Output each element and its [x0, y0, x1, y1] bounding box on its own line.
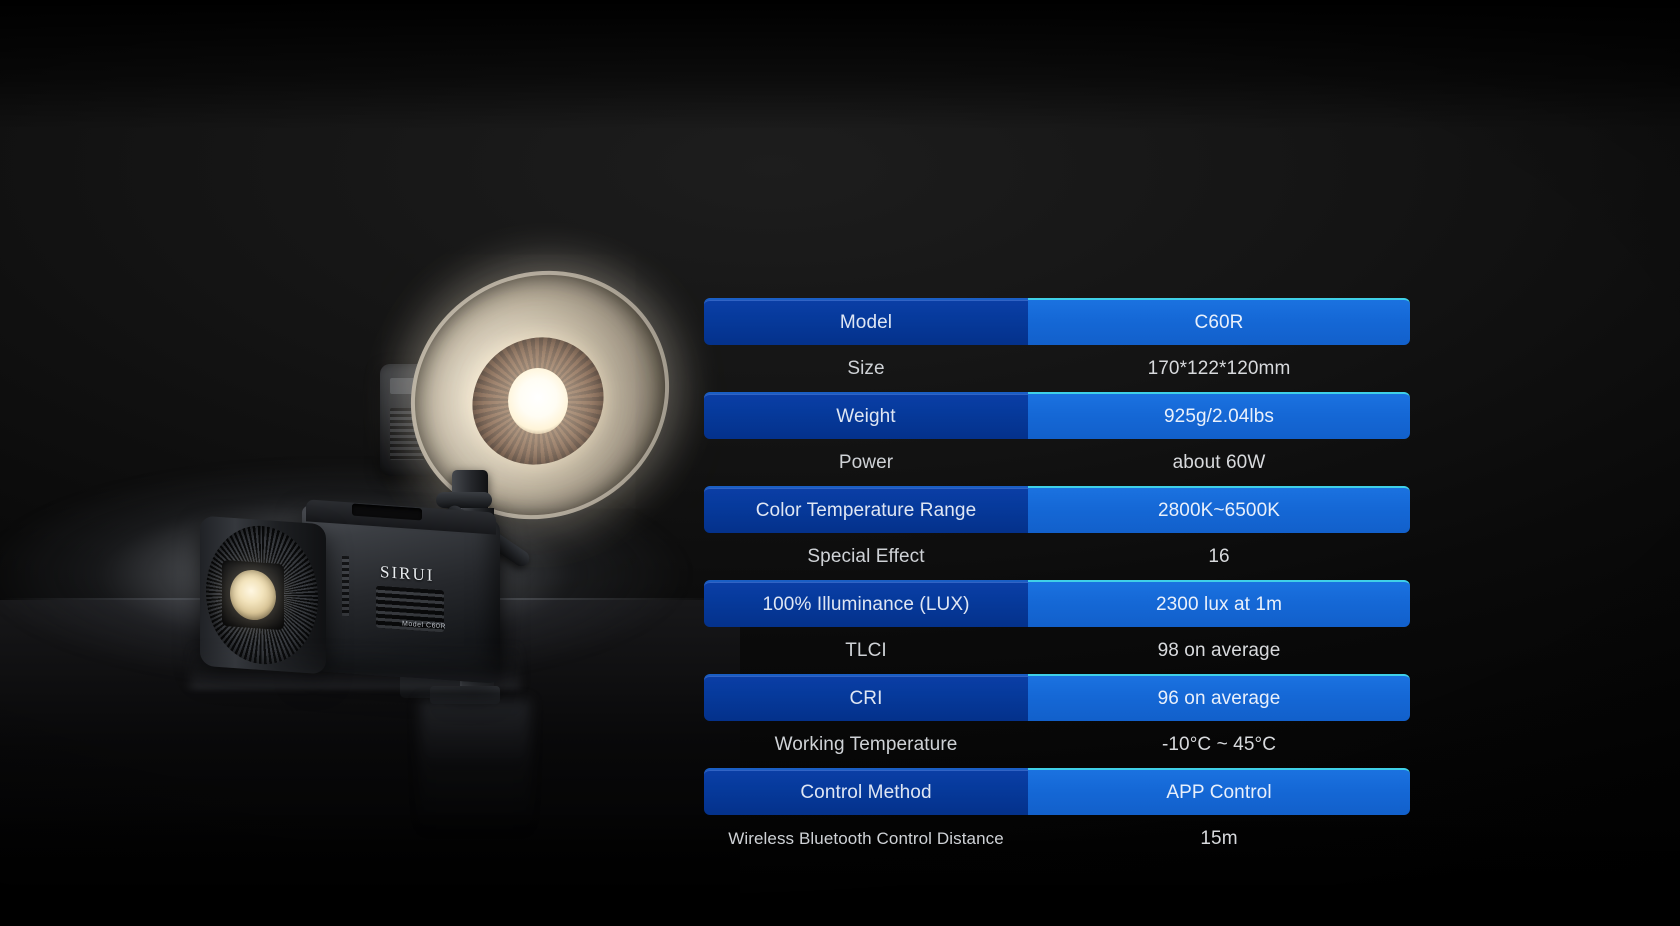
spec-label-cell: Model	[704, 298, 1028, 345]
table-row: Special Effect16	[704, 533, 1410, 580]
spec-value-cell: 15m	[1028, 815, 1410, 862]
led-emitter-glow	[508, 368, 568, 434]
spec-value-cell: 2300 lux at 1m	[1028, 580, 1410, 627]
table-row: Control MethodAPP Control	[704, 768, 1410, 815]
reflector-light-unit	[380, 272, 670, 522]
spec-value-cell: about 60W	[1028, 439, 1410, 486]
spec-value-cell: 16	[1028, 533, 1410, 580]
spec-value-cell: 2800K~6500K	[1028, 486, 1410, 533]
product-spec-page: SIRUI Model C60R ModelC60RSize170*122*12…	[0, 0, 1680, 926]
spec-value-cell: APP Control	[1028, 768, 1410, 815]
spec-label-cell: Working Temperature	[704, 721, 1028, 768]
table-row: Wireless Bluetooth Control Distance15m	[704, 815, 1410, 862]
spec-label-cell: Color Temperature Range	[704, 486, 1028, 533]
front-side-vent	[342, 556, 349, 616]
table-row: 100% Illuminance (LUX)2300 lux at 1m	[704, 580, 1410, 627]
spec-label-cell: Control Method	[704, 768, 1028, 815]
spec-value-cell: 96 on average	[1028, 674, 1410, 721]
spec-label-cell: Weight	[704, 392, 1028, 439]
brand-logo-text: SIRUI	[380, 562, 434, 586]
table-row: Size170*122*120mm	[704, 345, 1410, 392]
spec-label-cell: Power	[704, 439, 1028, 486]
table-row: Weight925g/2.04lbs	[704, 392, 1410, 439]
table-row: Powerabout 60W	[704, 439, 1410, 486]
spec-value-cell: 925g/2.04lbs	[1028, 392, 1410, 439]
spec-label-cell: Size	[704, 345, 1028, 392]
table-row: TLCI98 on average	[704, 627, 1410, 674]
spec-value-cell: C60R	[1028, 298, 1410, 345]
spec-value-cell: -10°C ~ 45°C	[1028, 721, 1410, 768]
specification-table: ModelC60RSize170*122*120mmWeight925g/2.0…	[704, 298, 1410, 862]
table-row: CRI96 on average	[704, 674, 1410, 721]
table-row: Color Temperature Range2800K~6500K	[704, 486, 1410, 533]
product-reflection	[190, 630, 520, 691]
spec-label-cell: Wireless Bluetooth Control Distance	[704, 815, 1028, 862]
spec-value-cell: 170*122*120mm	[1028, 345, 1410, 392]
spec-label-cell: Special Effect	[704, 533, 1028, 580]
spec-label-cell: CRI	[704, 674, 1028, 721]
spec-label-cell: TLCI	[704, 627, 1028, 674]
table-row: Working Temperature-10°C ~ 45°C	[704, 721, 1410, 768]
spec-value-cell: 98 on average	[1028, 627, 1410, 674]
background-top-fade	[0, 0, 1680, 130]
spec-label-cell: 100% Illuminance (LUX)	[704, 580, 1028, 627]
table-row: ModelC60R	[704, 298, 1410, 345]
